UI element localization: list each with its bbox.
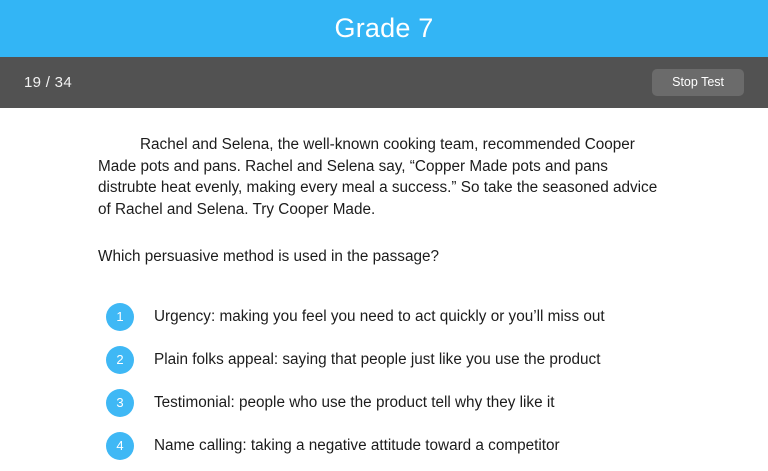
question-content: Rachel and Selena, the well-known cookin… <box>0 108 768 467</box>
option-number-badge: 3 <box>106 389 134 417</box>
stop-test-button[interactable]: Stop Test <box>652 69 744 97</box>
question-progress-counter: 19 / 34 <box>24 74 72 91</box>
option-number-badge: 4 <box>106 432 134 460</box>
option-number-badge: 2 <box>106 346 134 374</box>
page-title: Grade 7 <box>335 15 434 42</box>
test-toolbar: 19 / 34 Stop Test <box>0 57 768 108</box>
passage-text: Rachel and Selena, the well-known cookin… <box>98 134 670 221</box>
option-label: Urgency: making you feel you need to act… <box>154 307 605 327</box>
answer-option-4[interactable]: 4 Name calling: taking a negative attitu… <box>106 424 670 467</box>
answer-options-list: 1 Urgency: making you feel you need to a… <box>98 295 670 467</box>
answer-option-3[interactable]: 3 Testimonial: people who use the produc… <box>106 381 670 424</box>
option-label: Plain folks appeal: saying that people j… <box>154 350 600 370</box>
option-label: Testimonial: people who use the product … <box>154 393 554 413</box>
quiz-app: Grade 7 19 / 34 Stop Test Rachel and Sel… <box>0 0 768 471</box>
option-number-badge: 1 <box>106 303 134 331</box>
answer-option-2[interactable]: 2 Plain folks appeal: saying that people… <box>106 338 670 381</box>
question-prompt: Which persuasive method is used in the p… <box>98 246 670 267</box>
answer-option-1[interactable]: 1 Urgency: making you feel you need to a… <box>106 295 670 338</box>
option-label: Name calling: taking a negative attitude… <box>154 436 560 456</box>
title-bar: Grade 7 <box>0 0 768 57</box>
